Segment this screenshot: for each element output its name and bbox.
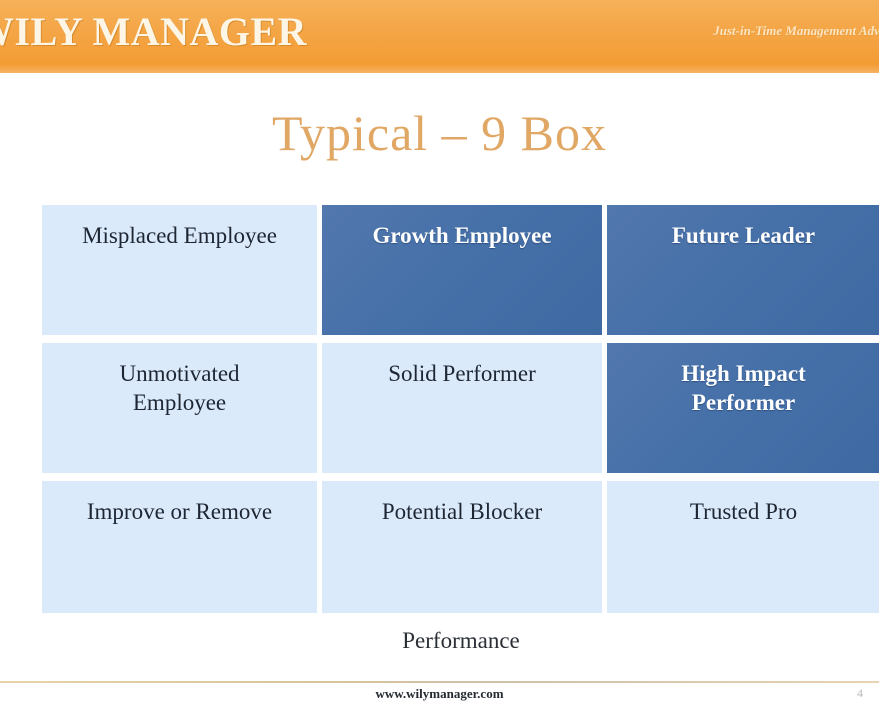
grid-cell-unmotivated-employee-line1: Unmotivated xyxy=(119,361,239,386)
grid-cell-improve-or-remove: Improve or Remove xyxy=(42,481,317,613)
header-banner: WILY MANAGER Just-in-Time Management Adv… xyxy=(0,0,879,73)
footer-divider xyxy=(0,681,879,683)
grid-cell-high-impact-performer-line2: Performer xyxy=(692,390,795,415)
brand-logo: WILY MANAGER xyxy=(0,8,307,55)
slide-title: Typical – 9 Box xyxy=(0,104,879,162)
brand-tagline: Just-in-Time Management Advice xyxy=(713,23,879,39)
grid-cell-high-impact-performer: High Impact Performer xyxy=(607,343,879,473)
grid-cell-future-leader: Future Leader xyxy=(607,205,879,335)
grid-row-middle: Unmotivated Employee Solid Performer Hig… xyxy=(42,343,879,473)
grid-cell-solid-performer: Solid Performer xyxy=(322,343,602,473)
grid-cell-high-impact-performer-line1: High Impact xyxy=(681,361,806,386)
grid-cell-growth-employee: Growth Employee xyxy=(322,205,602,335)
grid-cell-trusted-pro: Trusted Pro xyxy=(607,481,879,613)
footer-website-url: www.wilymanager.com xyxy=(0,686,879,702)
grid-row-top: Misplaced Employee Growth Employee Futur… xyxy=(42,205,879,335)
presentation-slide: WILY MANAGER Just-in-Time Management Adv… xyxy=(0,0,879,720)
grid-cell-potential-blocker: Potential Blocker xyxy=(322,481,602,613)
x-axis-label-performance: Performance xyxy=(42,628,879,654)
footer-page-number: 4 xyxy=(857,686,863,701)
grid-row-bottom: Improve or Remove Potential Blocker Trus… xyxy=(42,481,879,613)
grid-cell-unmotivated-employee: Unmotivated Employee xyxy=(42,343,317,473)
grid-cell-misplaced-employee: Misplaced Employee xyxy=(42,205,317,335)
nine-box-grid: Misplaced Employee Growth Employee Futur… xyxy=(42,205,879,613)
grid-cell-unmotivated-employee-line2: Employee xyxy=(133,390,226,415)
